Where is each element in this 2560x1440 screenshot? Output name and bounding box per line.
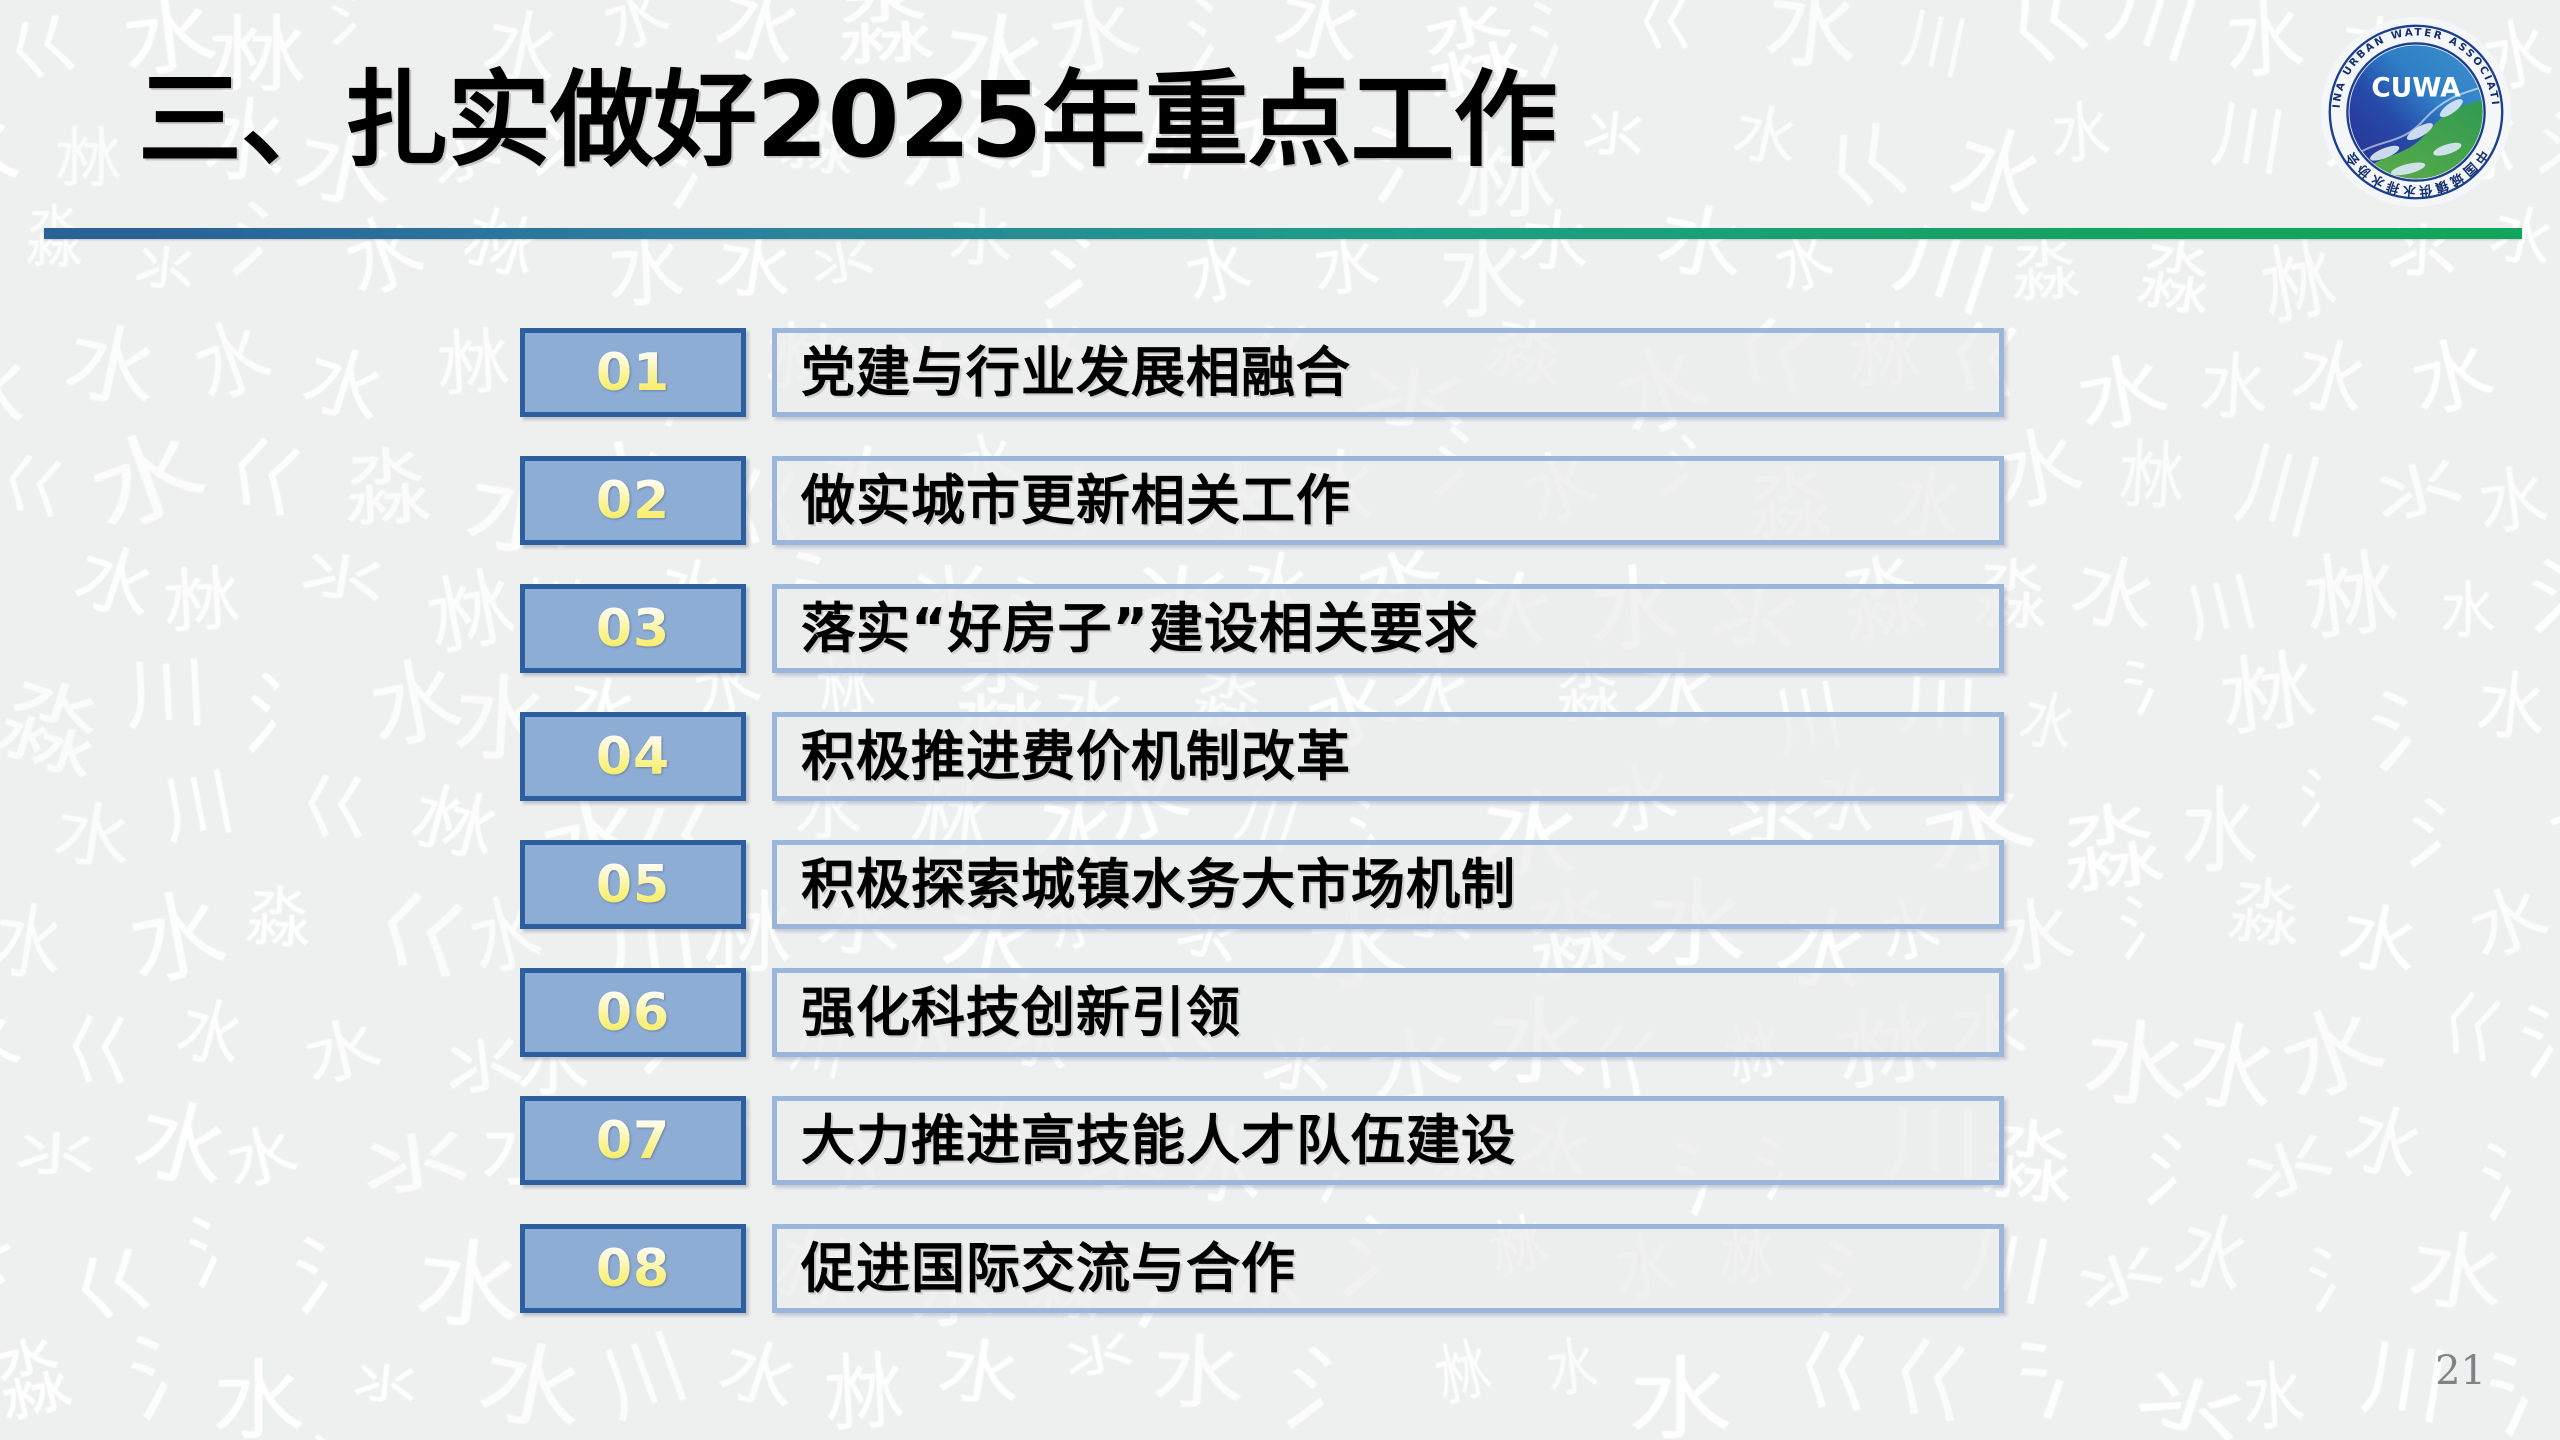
agenda-item-label: 党建与行业发展相融合 — [777, 346, 1351, 400]
agenda-number-label: 02 — [596, 475, 670, 527]
agenda-number-badge: 02 — [520, 456, 746, 545]
agenda-row: 08促进国际交流与合作 — [520, 1224, 2004, 1313]
agenda-text-box: 大力推进高技能人才队伍建设 — [772, 1096, 2004, 1185]
agenda-item-label: 促进国际交流与合作 — [777, 1242, 1296, 1296]
agenda-number-badge: 03 — [520, 584, 746, 673]
agenda-row: 06强化科技创新引领 — [520, 968, 2004, 1057]
agenda-text-box: 强化科技创新引领 — [772, 968, 2004, 1057]
cuwa-logo: CUWA CHINA URBAN WATER ASSOCIATION 中国城镇供… — [2318, 14, 2514, 210]
page-title: 三、扎实做好2025年重点工作 — [138, 62, 1556, 178]
agenda-number-badge: 05 — [520, 840, 746, 929]
agenda-number-label: 01 — [596, 347, 670, 399]
agenda-number-badge: 08 — [520, 1224, 746, 1313]
agenda-number-badge: 07 — [520, 1096, 746, 1185]
agenda-row: 04积极推进费价机制改革 — [520, 712, 2004, 801]
agenda-item-label: 做实城市更新相关工作 — [777, 474, 1351, 528]
agenda-text-box: 做实城市更新相关工作 — [772, 456, 2004, 545]
agenda-text-box: 积极探索城镇水务大市场机制 — [772, 840, 2004, 929]
agenda-row: 03落实“好房子”建设相关要求 — [520, 584, 2004, 673]
agenda-number-label: 04 — [596, 731, 670, 783]
agenda-number-label: 07 — [596, 1115, 670, 1167]
agenda-row: 02做实城市更新相关工作 — [520, 456, 2004, 545]
agenda-number-label: 08 — [596, 1243, 670, 1295]
agenda-number-label: 06 — [596, 987, 670, 1039]
page-number: 21 — [2435, 1348, 2486, 1394]
logo-center-text: CUWA — [2371, 72, 2461, 103]
agenda-row: 01党建与行业发展相融合 — [520, 328, 2004, 417]
agenda-text-box: 积极推进费价机制改革 — [772, 712, 2004, 801]
agenda-row: 07大力推进高技能人才队伍建设 — [520, 1096, 2004, 1185]
agenda-item-label: 落实“好房子”建设相关要求 — [777, 602, 1479, 656]
agenda-number-label: 03 — [596, 603, 670, 655]
agenda-item-label: 积极推进费价机制改革 — [777, 730, 1351, 784]
slide-canvas: 巜水沝氵水水水淼水水氵水淼氵巜水川巜川水水水氺水沝水水氺氵氵淼水水川水氵沝氺水巜… — [0, 0, 2560, 1440]
agenda-number-badge: 01 — [520, 328, 746, 417]
title-divider-rule — [44, 228, 2522, 239]
agenda-text-box: 促进国际交流与合作 — [772, 1224, 2004, 1313]
agenda-item-label: 强化科技创新引领 — [777, 986, 1241, 1040]
agenda-item-label: 积极探索城镇水务大市场机制 — [777, 858, 1516, 912]
agenda-number-badge: 06 — [520, 968, 746, 1057]
agenda-text-box: 党建与行业发展相融合 — [772, 328, 2004, 417]
agenda-number-label: 05 — [596, 859, 670, 911]
agenda-text-box: 落实“好房子”建设相关要求 — [772, 584, 2004, 673]
agenda-row: 05积极探索城镇水务大市场机制 — [520, 840, 2004, 929]
agenda-list: 01党建与行业发展相融合02做实城市更新相关工作03落实“好房子”建设相关要求0… — [0, 0, 2560, 1440]
agenda-number-badge: 04 — [520, 712, 746, 801]
agenda-item-label: 大力推进高技能人才队伍建设 — [777, 1114, 1516, 1168]
cuwa-logo-icon: CUWA CHINA URBAN WATER ASSOCIATION 中国城镇供… — [2318, 14, 2514, 210]
